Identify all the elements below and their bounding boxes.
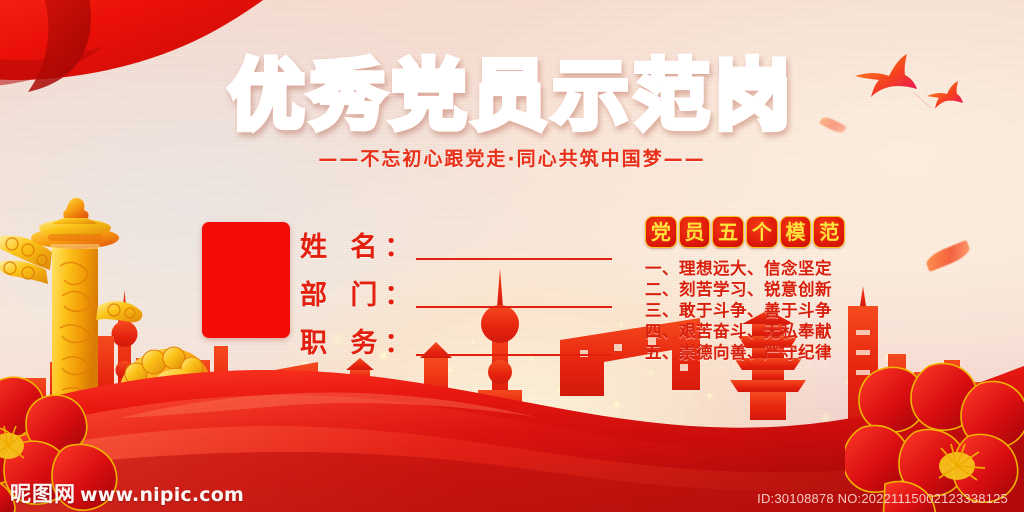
photo-placeholder[interactable]	[202, 222, 290, 338]
list-item: 四、艰苦奋斗、无私奉献	[645, 322, 845, 342]
heading-badge-1: 党	[645, 216, 677, 248]
asset-id-text: ID:30108878 NO:20221115002123338125	[757, 491, 1008, 506]
page-subtitle: ——不忘初心跟党走·同心共筑中国梦——	[0, 144, 1024, 171]
watermark-brand: 昵图网	[10, 478, 76, 508]
form-row-name: 姓 名：	[300, 216, 612, 264]
info-form: 姓 名： 部 门： 职 务：	[300, 216, 612, 360]
poster-canvas: 优秀党员示范岗 ——不忘初心跟党走·同心共筑中国梦—— 姓 名： 部 门： 职 …	[0, 0, 1024, 512]
panel-item-list: 一、理想远大、信念坚定 二、刻苦学习、锐意创新 三、敢于斗争、善于斗争 四、艰苦…	[645, 259, 845, 363]
title-block: 优秀党员示范岗 ——不忘初心跟党走·同心共筑中国梦——	[0, 58, 1024, 171]
peony-flower-right	[845, 362, 1024, 512]
heading-badge-5: 模	[780, 216, 812, 248]
name-label: 姓 名：	[300, 234, 418, 264]
list-item: 二、刻苦学习、锐意创新	[645, 280, 845, 300]
department-label: 部 门：	[300, 282, 418, 312]
heading-badge-2: 员	[679, 216, 711, 248]
position-label: 职 务：	[300, 330, 418, 360]
heading-badge-3: 五	[712, 216, 744, 248]
department-input[interactable]	[416, 306, 612, 308]
form-row-position: 职 务：	[300, 312, 612, 360]
five-models-panel: 党 员 五 个 模 范 一、理想远大、信念坚定 二、刻苦学习、锐意创新 三、敢于…	[645, 216, 845, 364]
list-item: 三、敢于斗争、善于斗争	[645, 301, 845, 321]
panel-heading: 党 员 五 个 模 范	[645, 216, 845, 248]
page-title: 优秀党员示范岗	[229, 58, 796, 134]
watermark-url: www.nipic.com	[80, 484, 244, 506]
site-watermark: 昵图网 www.nipic.com	[10, 478, 244, 508]
name-input[interactable]	[416, 258, 612, 260]
list-item: 五、崇德向善、严守纪律	[645, 343, 845, 363]
heading-badge-4: 个	[746, 216, 778, 248]
list-item: 一、理想远大、信念坚定	[645, 259, 845, 279]
heading-badge-6: 范	[813, 216, 845, 248]
position-input[interactable]	[416, 354, 612, 356]
form-row-department: 部 门：	[300, 264, 612, 312]
